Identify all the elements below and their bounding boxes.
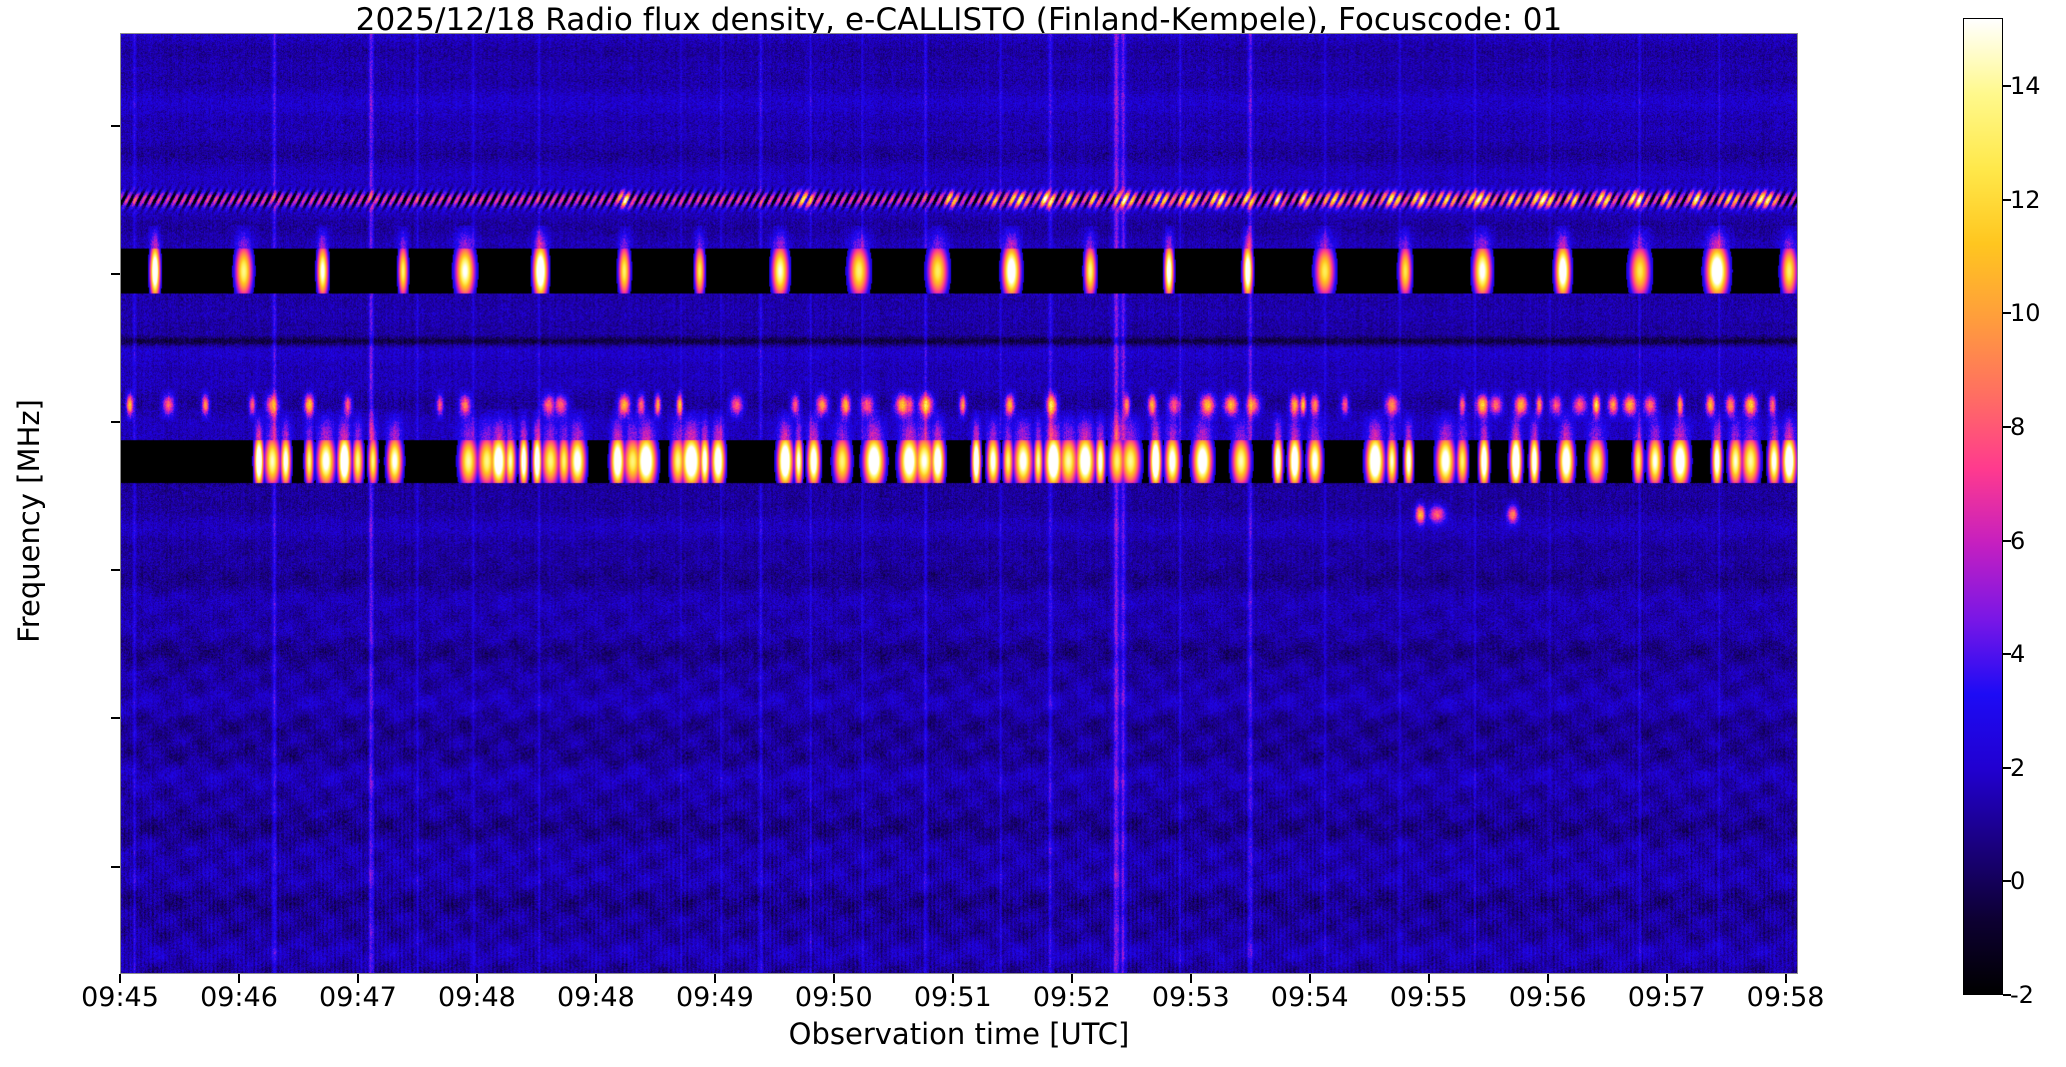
colorbar-gradient <box>1964 19 2002 994</box>
x-tick-label: 09:54 <box>1271 982 1349 1013</box>
x-tick-label: 09:55 <box>1390 982 1468 1013</box>
x-tick-label: 09:56 <box>1509 982 1587 1013</box>
x-tick-label: 09:45 <box>81 982 159 1013</box>
x-tick-label: 09:48 <box>557 982 635 1013</box>
colorbar-tick-label: 8 <box>2010 413 2025 441</box>
colorbar-tick-label: 2 <box>2010 754 2025 782</box>
colorbar-tick-label: 4 <box>2010 640 2025 668</box>
x-tick-label: 09:52 <box>1033 982 1111 1013</box>
x-tick-label: 09:49 <box>676 982 754 1013</box>
y-tick-mark <box>111 421 120 423</box>
colorbar <box>1963 18 2003 995</box>
y-tick-mark <box>111 717 120 719</box>
colorbar-tick-label: 14 <box>2010 72 2041 100</box>
x-tick-label: 09:48 <box>438 982 516 1013</box>
x-axis-label: Observation time [UTC] <box>120 1017 1798 1051</box>
spectrogram-figure: 2025/12/18 Radio flux density, e-CALLIST… <box>0 0 2066 1067</box>
x-tick-label: 09:51 <box>914 982 992 1013</box>
spectrogram-plot-area <box>120 33 1798 974</box>
colorbar-tick-label: 0 <box>2010 867 2025 895</box>
colorbar-tick-label: 10 <box>2010 299 2041 327</box>
y-tick-mark <box>111 273 120 275</box>
colorbar-tick-label: -2 <box>2010 981 2034 1009</box>
x-tick-label: 09:58 <box>1747 982 1825 1013</box>
y-axis-label: Frequency [MHz] <box>12 261 46 781</box>
x-tick-label: 09:50 <box>795 982 873 1013</box>
x-tick-label: 09:46 <box>200 982 278 1013</box>
y-tick-mark <box>111 866 120 868</box>
y-tick-mark <box>111 569 120 571</box>
x-tick-label: 09:47 <box>319 982 397 1013</box>
y-tick-mark <box>111 125 120 127</box>
spectrogram-canvas <box>121 34 1797 973</box>
colorbar-tick-label: 12 <box>2010 186 2041 214</box>
x-tick-label: 09:53 <box>1152 982 1230 1013</box>
colorbar-tick-label: 6 <box>2010 527 2025 555</box>
x-tick-label: 09:57 <box>1628 982 1706 1013</box>
